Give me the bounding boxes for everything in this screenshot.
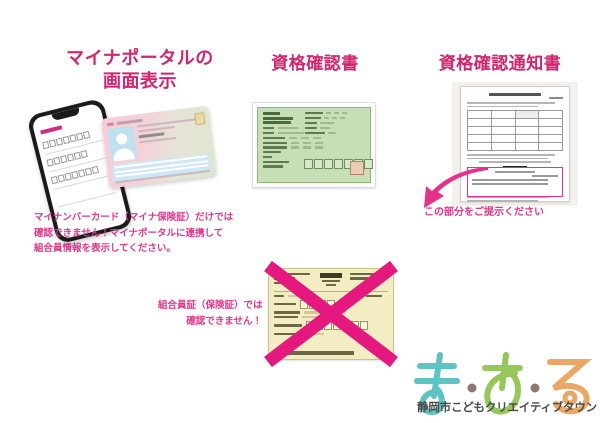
document-subtitle [549,97,563,99]
field-row [274,311,388,313]
phone-notch [51,108,80,122]
card-fields [274,295,388,335]
card-line [139,137,176,144]
field-row [305,122,365,124]
field-row [263,156,365,158]
document-title [489,93,541,96]
document-line [467,158,548,160]
photo-shoulders [112,147,135,162]
caption-mynaportal: マイナンバーカード（マイナ保険証）だけでは 確認できません！マイナポータルに連携… [34,210,233,257]
table-row [468,143,562,150]
heading-mynaportal: マイナポータルの 画面表示 [40,48,240,93]
caption-line: 組合員情報を表示してください。 [34,241,233,257]
field-row [274,316,388,318]
field-row [305,132,365,134]
infographic-canvas: マイナポータルの 画面表示 資格確認書 資格確認通知書 [0,0,600,423]
logo-dot [531,384,540,393]
field-row [263,142,365,144]
card-top-right [350,273,388,282]
field-row [305,117,365,119]
official-seal-icon [350,161,364,175]
issuer-bar [274,351,354,355]
table-row [468,135,562,143]
heading-shikaku-kakunin-tsuchisho: 資格確認通知書 [410,54,590,75]
document-line [479,161,550,163]
heading-mynaportal-line1: マイナポータルの [66,48,214,69]
document-table [467,110,563,151]
honnin-label [316,273,346,288]
document-line [467,102,555,104]
kumiaiinsho-card-group [268,268,394,360]
card-header-title [117,119,143,125]
document-line [467,154,555,156]
table-row [468,119,562,127]
heading-mynaportal-line2: 画面表示 [40,71,240,94]
field-row [263,146,365,148]
caption-line: 確認できません！ [158,314,262,330]
card-bottom-section [274,351,388,355]
field-row [263,151,365,153]
field-row [274,300,388,309]
card-header-tag [107,122,114,126]
card-top-section [274,273,388,292]
table-row [468,127,562,135]
logo-subtitle: 静岡市こどもクリエイティブタウン [414,399,600,415]
field-row [305,112,365,114]
green-card-face [257,107,371,183]
ic-chip-icon [194,112,205,125]
field-row [274,321,388,330]
caption-line: マイナンバーカード（マイナ保険証）だけでは [34,210,233,226]
card-top-left [274,273,312,286]
highlight-line [532,175,558,177]
document-line [467,106,538,108]
field-row [274,295,388,297]
field-row [305,127,365,129]
card-photo [107,126,137,162]
card-line [138,126,175,133]
kumiaiinsho-hokensho-card [268,268,394,360]
caption-kumiaiinsho: 組合員証（保険証）では 確認できません！ [158,298,262,329]
field-row [274,333,388,335]
caption-show-this-part: この部分をご提示ください [424,205,544,222]
table-row [468,111,562,119]
caption-line: 確認できません！マイナポータルに連携して [34,226,233,242]
photo-head [116,133,128,145]
logo-dot [468,384,477,393]
green-card-right-fields [305,112,365,137]
heading-shikaku-kakuninsho: 資格確認書 [250,54,380,75]
shikaku-kakuninsho-card [252,102,376,188]
my-number-card-illustration [101,106,217,189]
caption-line: 組合員証（保険証）では [158,298,262,314]
field-row [263,137,365,139]
highlight-line [495,171,535,173]
